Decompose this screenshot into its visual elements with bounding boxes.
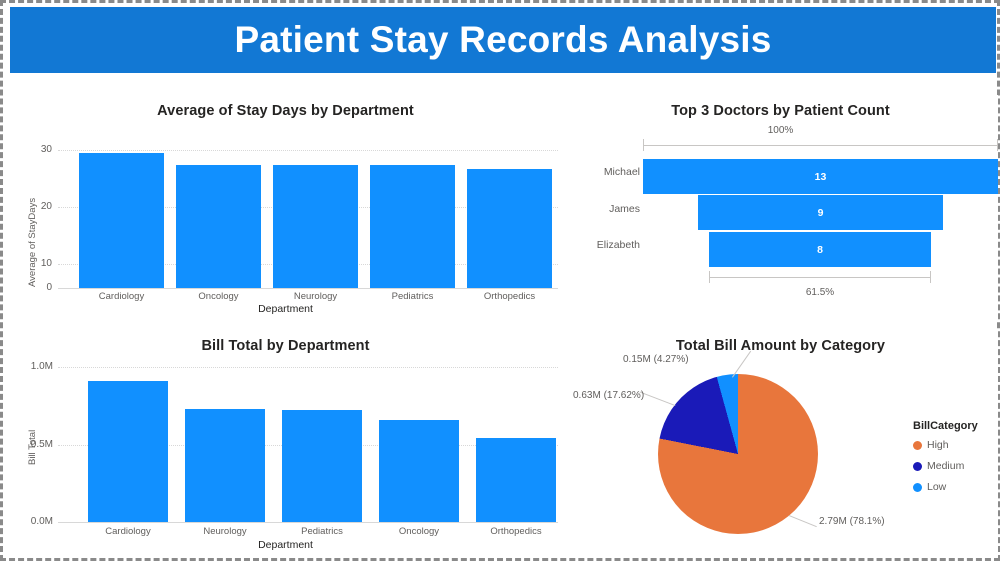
chart-title-doctors: Top 3 Doctors by Patient Count — [563, 103, 998, 119]
x-tick-pediatrics-staydays: Pediatrics — [370, 291, 455, 302]
funnel-bottom-bracket-cap-right — [930, 271, 931, 283]
funnel-value-elizabeth: 8 — [817, 244, 823, 256]
legend-item-low[interactable]: Low — [913, 481, 978, 493]
bar-cardiology-staydays[interactable] — [79, 153, 164, 288]
funnel-bottom-bracket — [709, 277, 931, 278]
x-tick-oncology-billtotal: Oncology — [379, 526, 459, 537]
funnel-label-james: James — [585, 203, 640, 215]
pie-label-high: 2.79M (78.1%) — [819, 516, 885, 527]
chart-top-3-doctors-by-patient-count[interactable]: Top 3 Doctors by Patient Count 100% Mich… — [563, 95, 998, 320]
gridline-30 — [58, 150, 558, 151]
pie-legend: BillCategory High Medium Low — [913, 420, 978, 502]
axis-baseline-bill-total — [58, 522, 558, 523]
x-axis-title-stay-days: Department — [13, 303, 558, 315]
legend-title-billcategory: BillCategory — [913, 420, 978, 432]
y-tick-10: 10 — [18, 258, 52, 269]
funnel-bar-james[interactable]: 9 — [698, 195, 943, 230]
x-axis-title-bill-total: Department — [13, 539, 558, 551]
x-tick-cardiology-billtotal: Cardiology — [88, 526, 168, 537]
pie-label-medium: 0.63M (17.62%) — [573, 390, 644, 401]
report-header-banner: Patient Stay Records Analysis — [10, 7, 996, 73]
pie-label-low: 0.15M (4.27%) — [623, 354, 689, 365]
funnel-value-james: 9 — [818, 207, 824, 219]
funnel-bar-michael[interactable]: 13 — [643, 159, 998, 194]
legend-item-high[interactable]: High — [913, 439, 978, 451]
funnel-label-michael: Michael — [585, 166, 640, 178]
legend-label-low: Low — [927, 481, 946, 493]
bar-neurology-billtotal[interactable] — [185, 409, 265, 522]
x-tick-orthopedics-billtotal: Orthopedics — [476, 526, 556, 537]
bar-orthopedics-staydays[interactable] — [467, 169, 552, 288]
pie-leader-medium — [640, 391, 676, 406]
x-tick-orthopedics-staydays: Orthopedics — [467, 291, 552, 302]
funnel-top-bracket-cap-right — [997, 139, 998, 151]
chart-title-stay-days: Average of Stay Days by Department — [13, 103, 558, 119]
chart-bill-total-by-department[interactable]: Bill Total by Department Bill Total 1.0M… — [13, 330, 558, 558]
y-tick-30: 30 — [18, 144, 52, 155]
legend-dot-high-icon — [913, 441, 922, 450]
bar-neurology-staydays[interactable] — [273, 165, 358, 288]
bar-oncology-staydays[interactable] — [176, 165, 261, 288]
legend-dot-medium-icon — [913, 462, 922, 471]
bar-orthopedics-billtotal[interactable] — [476, 438, 556, 522]
funnel-value-michael: 13 — [815, 171, 827, 183]
funnel-label-elizabeth: Elizabeth — [585, 239, 640, 251]
legend-label-high: High — [927, 439, 949, 451]
y-tick-0: 0 — [18, 282, 52, 293]
x-tick-cardiology-staydays: Cardiology — [79, 291, 164, 302]
chart-average-stay-days-by-department[interactable]: Average of Stay Days by Department Avera… — [13, 95, 558, 320]
bar-pediatrics-staydays[interactable] — [370, 165, 455, 288]
legend-label-medium: Medium — [927, 460, 964, 472]
x-tick-oncology-staydays: Oncology — [176, 291, 261, 302]
y-tick-0-5m: 0.5M — [13, 439, 53, 450]
funnel-bottom-percent-label: 61.5% — [709, 287, 931, 298]
pie-leader-high — [789, 515, 817, 527]
legend-dot-low-icon — [913, 483, 922, 492]
legend-item-medium[interactable]: Medium — [913, 460, 978, 472]
pie-total-bill-amount[interactable] — [658, 374, 818, 534]
bar-pediatrics-billtotal[interactable] — [282, 410, 362, 522]
gridline-1-0m — [58, 367, 558, 368]
chart-title-bill-category: Total Bill Amount by Category — [563, 338, 998, 354]
x-tick-pediatrics-billtotal: Pediatrics — [282, 526, 362, 537]
axis-baseline-stay-days — [58, 288, 558, 289]
x-tick-neurology-billtotal: Neurology — [185, 526, 265, 537]
chart-title-bill-total: Bill Total by Department — [13, 338, 558, 354]
funnel-top-bracket-cap-left — [643, 139, 644, 151]
y-tick-1-0m: 1.0M — [13, 361, 53, 372]
page-title: Patient Stay Records Analysis — [234, 19, 771, 61]
bar-oncology-billtotal[interactable] — [379, 420, 459, 522]
funnel-bottom-bracket-cap-left — [709, 271, 710, 283]
x-tick-neurology-staydays: Neurology — [273, 291, 358, 302]
funnel-top-percent-label: 100% — [563, 125, 998, 136]
y-tick-0-0m: 0.0M — [13, 516, 53, 527]
bar-cardiology-billtotal[interactable] — [88, 381, 168, 522]
report-canvas: Patient Stay Records Analysis Average of… — [0, 0, 1000, 561]
y-tick-20: 20 — [18, 201, 52, 212]
funnel-top-bracket — [643, 145, 998, 146]
chart-total-bill-amount-by-category[interactable]: Total Bill Amount by Category 0.15M (4.2… — [563, 330, 998, 558]
funnel-bar-elizabeth[interactable]: 8 — [709, 232, 931, 267]
